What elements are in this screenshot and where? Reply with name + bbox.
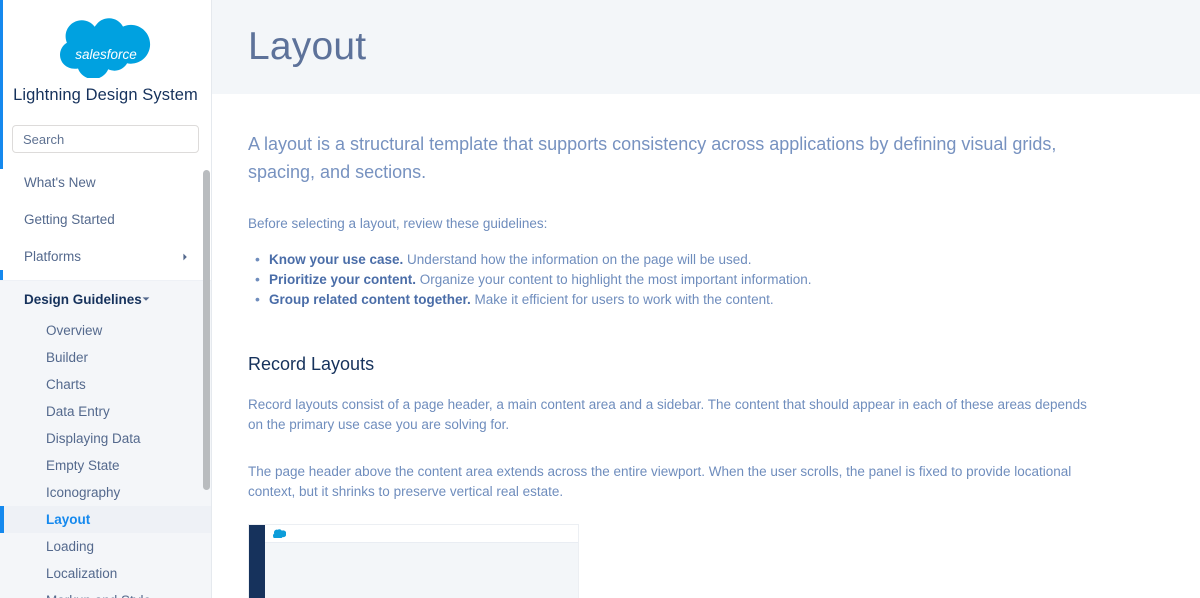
nav-group-design-guidelines: Design Guidelines Overview Builder Chart… — [0, 280, 211, 598]
illustration-main-area — [265, 525, 578, 598]
sidebar-item-getting-started[interactable]: Getting Started — [0, 206, 211, 233]
sidebar-item-whats-new[interactable]: What's New — [0, 169, 211, 196]
sidebar-item-data-entry[interactable]: Data Entry — [0, 398, 211, 425]
sidebar-item-builder[interactable]: Builder — [0, 344, 211, 371]
sidebar-item-label: Displaying Data — [46, 431, 141, 446]
sidebar-item-label: Loading — [46, 539, 94, 554]
main-content: Layout A layout is a structural template… — [212, 0, 1200, 598]
guideline-lead: Prioritize your content. — [269, 272, 416, 287]
sidebar-item-platforms[interactable]: Platforms — [0, 243, 211, 270]
sidebar-item-label: What's New — [24, 175, 96, 190]
guideline-lead: Group related content together. — [269, 292, 471, 307]
search-input[interactable] — [12, 125, 199, 153]
sidebar-item-charts[interactable]: Charts — [0, 371, 211, 398]
sidebar: salesforce Lightning Design System What'… — [0, 0, 212, 598]
page-header: Layout — [212, 0, 1200, 94]
chevron-down-icon — [142, 295, 150, 303]
illustration-topbar — [265, 525, 578, 543]
content-body: A layout is a structural template that s… — [212, 94, 1200, 598]
illustration-content-area — [265, 543, 578, 598]
sidebar-item-label: Empty State — [46, 458, 120, 473]
layout-illustration — [248, 524, 579, 598]
sidebar-item-label: Overview — [46, 323, 102, 338]
illustration-cloud-icon — [273, 529, 286, 538]
brand-block: salesforce Lightning Design System — [0, 0, 211, 105]
guideline-rest: Make it efficient for users to work with… — [471, 292, 774, 307]
guideline-rest: Understand how the information on the pa… — [403, 252, 751, 267]
sidebar-section-label: Design Guidelines — [24, 292, 142, 307]
section-heading-record-layouts: Record Layouts — [248, 354, 1164, 375]
sidebar-item-label: Iconography — [46, 485, 120, 500]
record-layouts-paragraph-1: Record layouts consist of a page header,… — [248, 395, 1093, 435]
guidelines-list: Know your use case. Understand how the i… — [248, 250, 1164, 310]
illustration-nav-rail — [249, 525, 265, 598]
sidebar-item-markup-and-style[interactable]: Markup and Style — [0, 587, 211, 598]
list-item: Know your use case. Understand how the i… — [269, 250, 1164, 270]
sidebar-item-label: Builder — [46, 350, 88, 365]
sidebar-item-displaying-data[interactable]: Displaying Data — [0, 425, 211, 452]
list-item: Group related content together. Make it … — [269, 290, 1164, 310]
sidebar-section-design-guidelines[interactable]: Design Guidelines — [0, 281, 211, 317]
guideline-rest: Organize your content to highlight the m… — [416, 272, 811, 287]
salesforce-wordmark: salesforce — [75, 47, 137, 62]
sidebar-item-label: Data Entry — [46, 404, 110, 419]
sidebar-item-layout[interactable]: Layout — [0, 506, 211, 533]
sidebar-item-label: Platforms — [24, 249, 81, 264]
page-title: Layout — [248, 25, 366, 69]
salesforce-cloud-logo-icon: salesforce — [60, 14, 152, 78]
app-root: salesforce Lightning Design System What'… — [0, 0, 1200, 598]
sidebar-item-overview[interactable]: Overview — [0, 317, 211, 344]
intro-paragraph: A layout is a structural template that s… — [248, 130, 1118, 186]
sidebar-item-empty-state[interactable]: Empty State — [0, 452, 211, 479]
sidebar-item-label: Getting Started — [24, 212, 115, 227]
sidebar-item-label: Markup and Style — [46, 593, 151, 598]
chevron-right-icon — [181, 253, 189, 261]
sidebar-item-iconography[interactable]: Iconography — [0, 479, 211, 506]
record-layouts-paragraph-2: The page header above the content area e… — [248, 462, 1093, 502]
brand-title: Lightning Design System — [0, 86, 211, 105]
search-container — [0, 105, 211, 153]
list-item: Prioritize your content. Organize your c… — [269, 270, 1164, 290]
sidebar-nav: What's New Getting Started Platforms Des… — [0, 169, 211, 598]
sidebar-item-localization[interactable]: Localization — [0, 560, 211, 587]
sidebar-item-label: Charts — [46, 377, 86, 392]
guideline-lead: Know your use case. — [269, 252, 403, 267]
sidebar-item-loading[interactable]: Loading — [0, 533, 211, 560]
sidebar-item-label: Layout — [46, 512, 90, 527]
nav-group-primary: What's New Getting Started Platforms — [0, 169, 211, 270]
sidebar-scrollbar-thumb[interactable] — [203, 170, 210, 490]
guidelines-intro: Before selecting a layout, review these … — [248, 214, 1164, 234]
sidebar-item-label: Localization — [46, 566, 117, 581]
